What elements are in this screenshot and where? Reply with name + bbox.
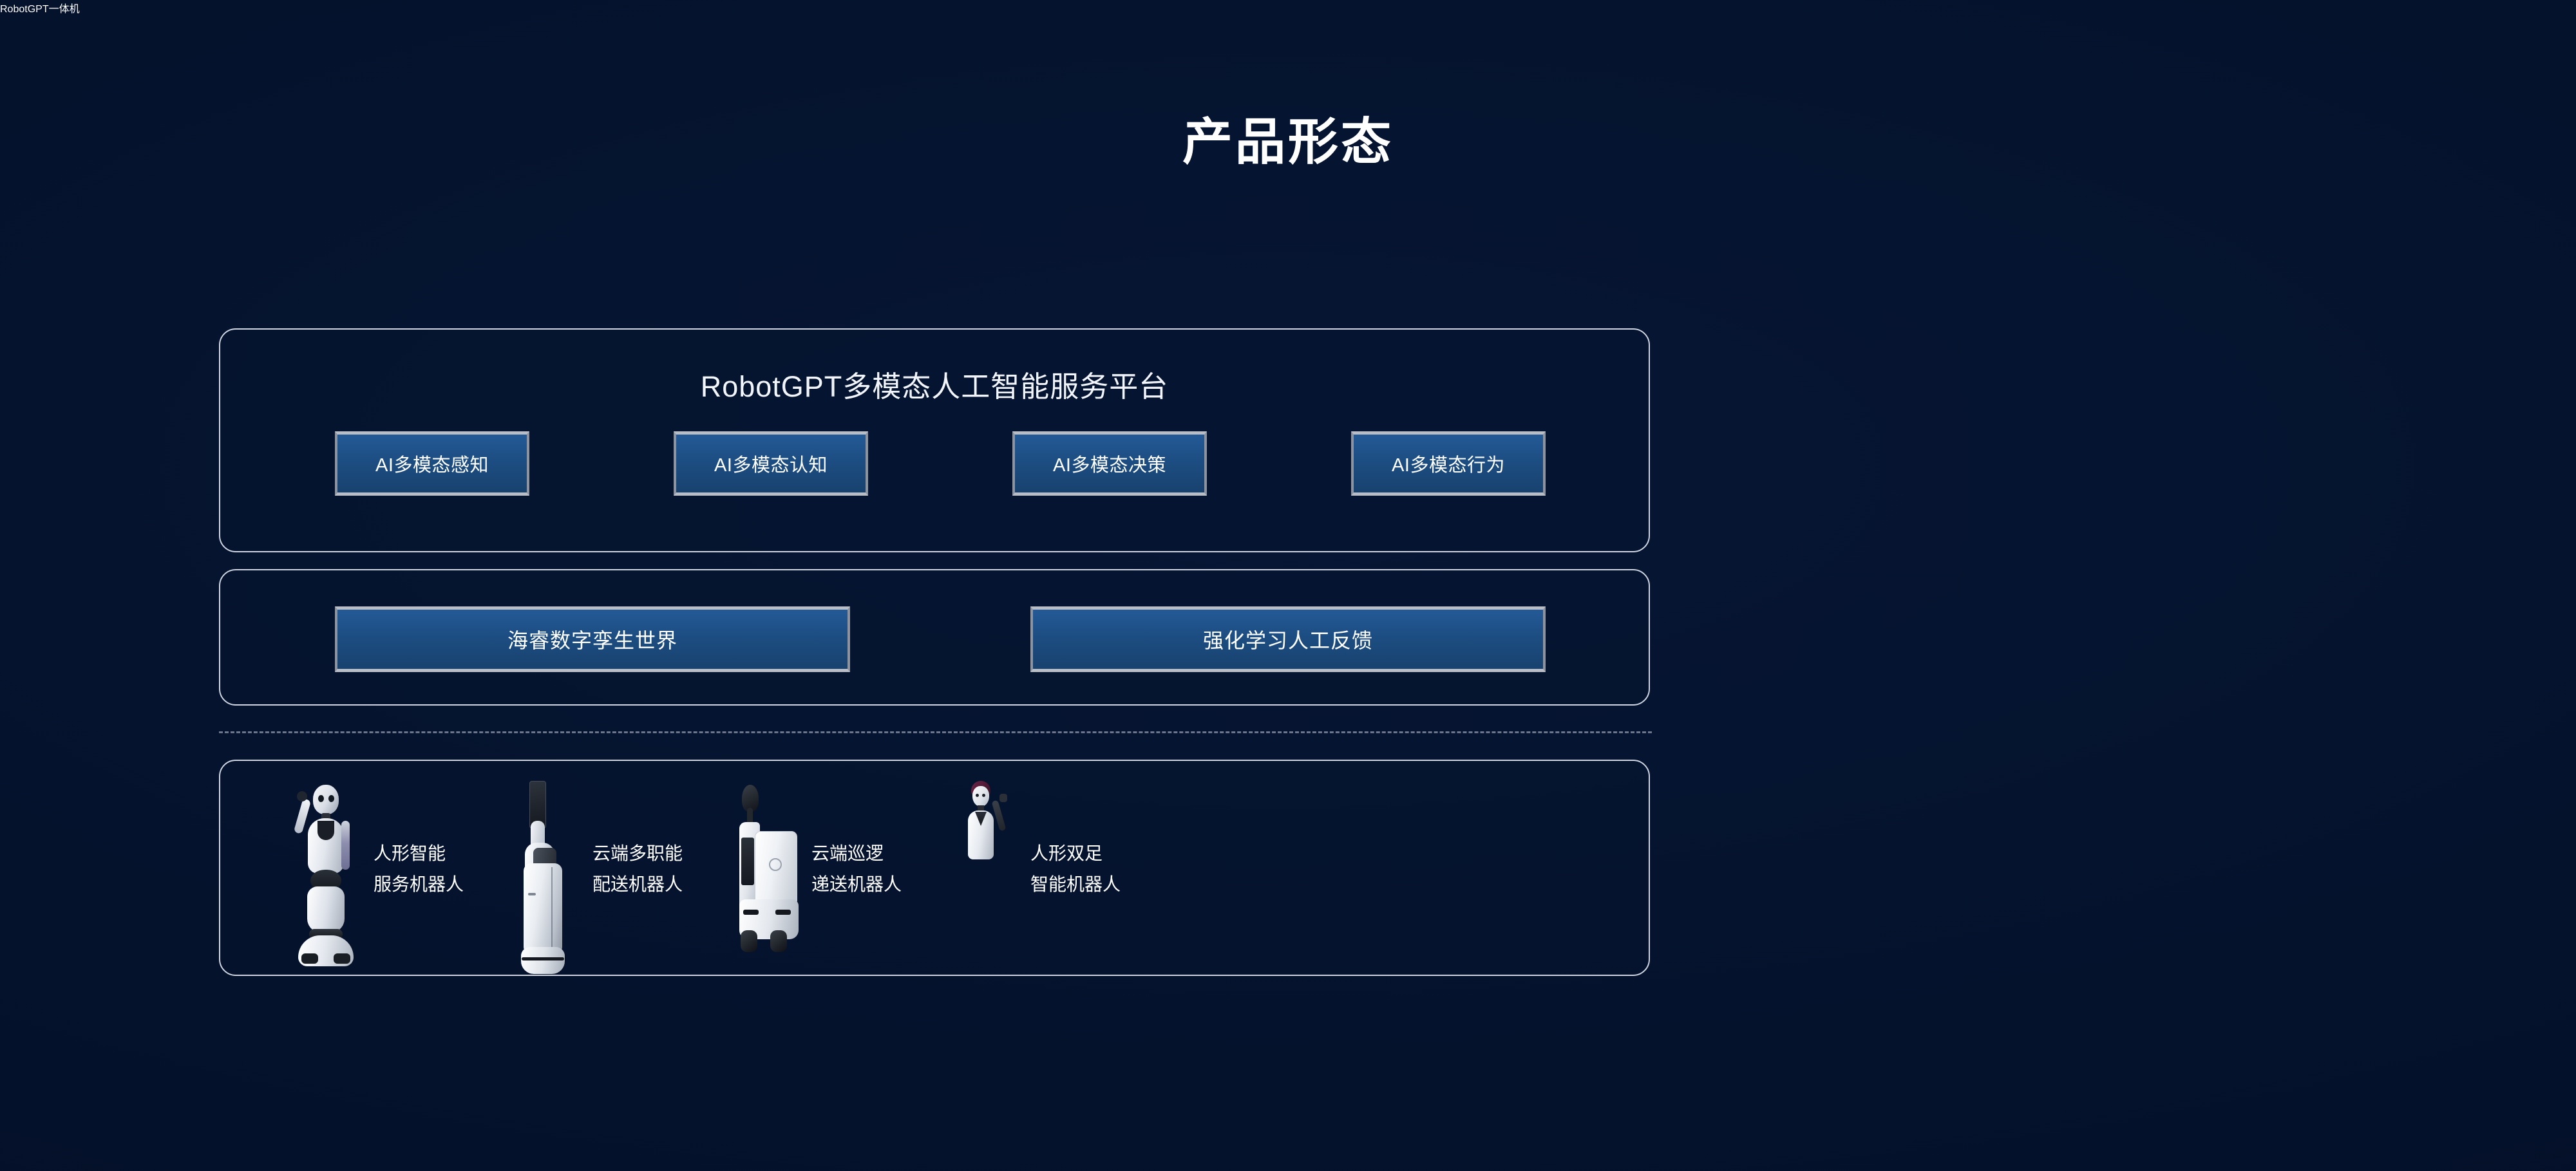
cloud-delivery-robot-icon: [504, 776, 581, 962]
product-label-line2: 配送机器人: [592, 869, 683, 900]
product-item[interactable]: 人形双足 智能机器人: [942, 773, 1121, 966]
capability-chip-perception[interactable]: AI多模态感知: [335, 431, 529, 496]
capability-row: AI多模态感知 AI多模态认知 AI多模态决策 AI多模态行为: [335, 431, 1546, 496]
engine-row: 海睿数字孪生世界 强化学习人工反馈: [335, 606, 1546, 672]
product-label-line1: 人形双足: [1030, 838, 1121, 869]
products-panel: 人形智能 服务机器人: [219, 760, 1650, 976]
product-label: 人形双足 智能机器人: [1030, 838, 1121, 900]
product-label-line2: 服务机器人: [374, 869, 464, 900]
dashed-separator: [219, 731, 1652, 733]
product-label-line1: 人形智能: [374, 838, 464, 869]
product-row: 人形智能 服务机器人: [285, 773, 1586, 966]
product-label-line1: 云端多职能: [592, 838, 683, 869]
platform-column: RobotGPT多模态人工智能服务平台 AI多模态感知 AI多模态认知 AI多模…: [219, 328, 1650, 972]
product-label-line2: 递送机器人: [811, 869, 902, 900]
product-label: 人形智能 服务机器人: [374, 838, 464, 900]
capability-chip-cognition[interactable]: AI多模态认知: [674, 431, 868, 496]
product-item[interactable]: 云端巡逻 递送机器人: [723, 773, 902, 966]
product-label: 云端巡逻 递送机器人: [811, 838, 902, 900]
page-title: 产品形态: [0, 115, 2576, 170]
capability-chip-behavior[interactable]: AI多模态行为: [1351, 431, 1546, 496]
platform-heading: RobotGPT多模态人工智能服务平台: [220, 363, 1649, 405]
product-item[interactable]: 人形智能 服务机器人: [285, 773, 464, 966]
engine-chip-digital-twin[interactable]: 海睿数字孪生世界: [335, 606, 850, 672]
product-label-line1: 云端巡逻: [811, 838, 902, 869]
product-label: 云端多职能 配送机器人: [592, 838, 683, 900]
product-label-line2: 智能机器人: [1030, 869, 1121, 900]
bipedal-humanoid-robot-icon: [942, 776, 1019, 962]
engine-panel: 海睿数字孪生世界 强化学习人工反馈: [219, 569, 1650, 706]
capability-chip-decision[interactable]: AI多模态决策: [1012, 431, 1207, 496]
engine-chip-rlhf[interactable]: 强化学习人工反馈: [1030, 606, 1546, 672]
slide-canvas: 产品形态 RobotGPT多模态人工智能服务平台 AI多模态感知 AI多模态认知…: [0, 0, 2576, 1171]
appliance-heading: RobotGPT一体机: [0, 0, 2576, 15]
cloud-patrol-robot-icon: [723, 776, 800, 962]
humanoid-service-robot-icon: [285, 776, 362, 962]
platform-panel: RobotGPT多模态人工智能服务平台 AI多模态感知 AI多模态认知 AI多模…: [219, 328, 1650, 552]
product-item[interactable]: 云端多职能 配送机器人: [504, 773, 683, 966]
